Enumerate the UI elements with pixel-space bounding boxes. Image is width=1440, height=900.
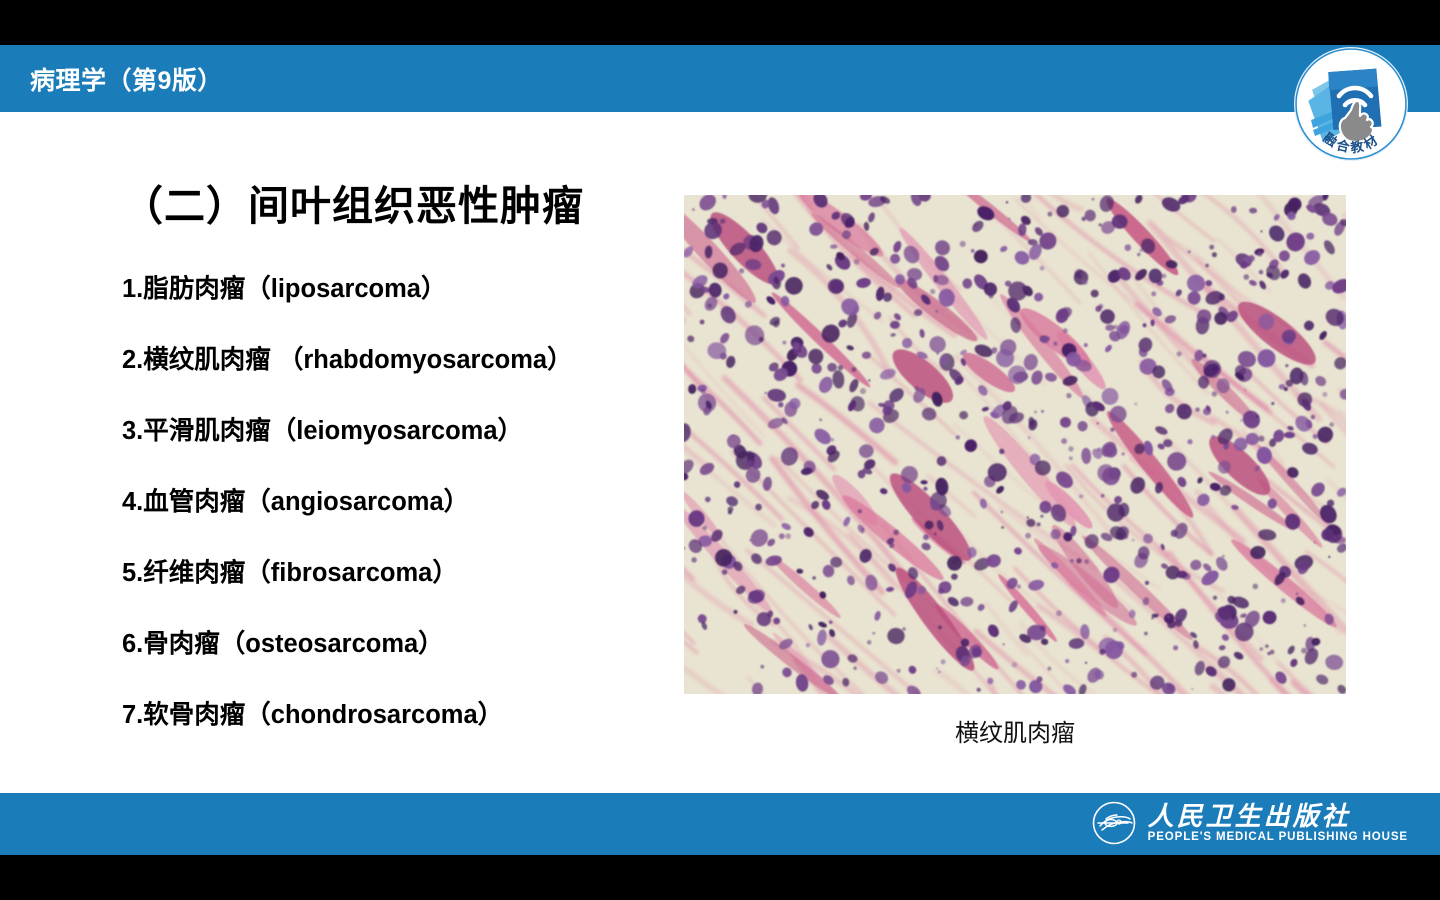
figure-caption: 横纹肌肉瘤: [684, 713, 1346, 748]
list-item: 4.血管肉瘤（angiosarcoma）: [122, 485, 682, 556]
list-item: 5.纤维肉瘤（fibrosarcoma）: [122, 556, 682, 627]
slide-canvas: 病理学（第9版）: [0, 45, 1440, 855]
slide-root: 病理学（第9版）: [0, 0, 1440, 900]
publisher-text: 人民卫生出版社 PEOPLE'S MEDICAL PUBLISHING HOUS…: [1148, 802, 1408, 845]
book-title: 病理学（第9版）: [30, 61, 223, 97]
header-bar: 病理学（第9版）: [0, 45, 1440, 112]
list-item: 7.软骨肉瘤（chondrosarcoma）: [122, 698, 682, 769]
publisher-name-en: PEOPLE'S MEDICAL PUBLISHING HOUSE: [1148, 830, 1408, 845]
rhabdomyosarcoma-micrograph-svg: [684, 195, 1346, 694]
publisher-emblem-icon: [1092, 801, 1136, 845]
page-title: （二）间叶组织恶性肿瘤: [122, 172, 584, 232]
publisher-logo: 人民卫生出版社 PEOPLE'S MEDICAL PUBLISHING HOUS…: [1092, 801, 1408, 845]
footer-bar: 人民卫生出版社 PEOPLE'S MEDICAL PUBLISHING HOUS…: [0, 793, 1440, 855]
list-item: 1.脂肪肉瘤（liposarcoma）: [122, 272, 682, 343]
histology-figure: 横纹肌肉瘤: [684, 195, 1346, 694]
list-item: 6.骨肉瘤（osteosarcoma）: [122, 627, 682, 698]
sarcoma-list: 1.脂肪肉瘤（liposarcoma） 2.横纹肌肉瘤 （rhabdomyosa…: [122, 272, 682, 769]
publisher-name-cn: 人民卫生出版社: [1148, 802, 1408, 830]
wifi-book-hand-icon: 融合教材: [1295, 48, 1407, 160]
list-item: 3.平滑肌肉瘤（leiomyosarcoma）: [122, 414, 682, 485]
list-item: 2.横纹肌肉瘤 （rhabdomyosarcoma）: [122, 343, 682, 414]
integrated-textbook-badge: 融合教材: [1295, 48, 1407, 160]
histology-image: [684, 195, 1346, 694]
